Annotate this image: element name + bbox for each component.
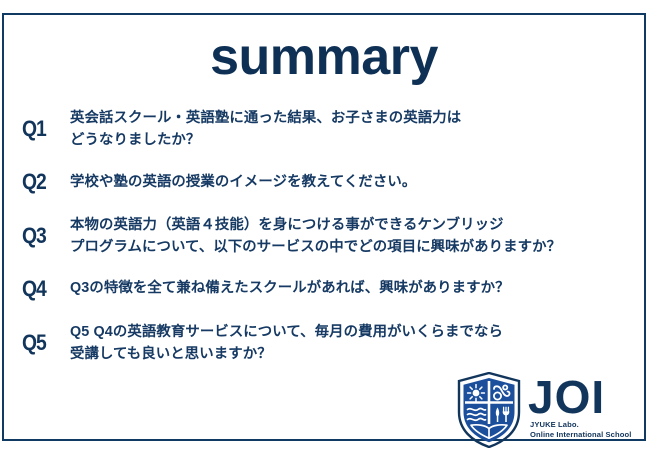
question-label-q1: Q1: [22, 117, 64, 141]
question-line: 本物の英語力（英語４技能）を身につける事ができるケンブリッジ: [70, 214, 630, 236]
question-row: Q3 本物の英語力（英語４技能）を身につける事ができるケンブリッジ プログラムに…: [22, 214, 630, 259]
question-row: Q5 Q5 Q4の英語教育サービスについて、毎月の費用がいくらまでなら 受講して…: [22, 321, 630, 366]
joi-tagline-line1: JYUKE Labo.: [530, 420, 631, 430]
question-line: 受講しても良いと思いますか？: [70, 343, 630, 365]
joi-logo: JOI JYUKE Labo. Online International Sch…: [456, 372, 636, 450]
question-text-q3: 本物の英語力（英語４技能）を身につける事ができるケンブリッジ プログラムについて…: [70, 214, 630, 259]
question-line: Q3の特徴を全て兼ね備えたスクールがあれば、興味がありますか？: [70, 277, 630, 299]
question-list: Q1 英会話スクール・英語塾に通った結果、お子さまの英語力は どうなりましたか？…: [22, 107, 630, 365]
joi-tagline: JYUKE Labo. Online International School: [530, 420, 631, 439]
question-label-q2: Q2: [22, 170, 64, 194]
question-text-q5: Q5 Q4の英語教育サービスについて、毎月の費用がいくらまでなら 受講しても良い…: [70, 321, 630, 366]
joi-tagline-line2: Online International School: [530, 430, 631, 440]
question-row: Q4 Q3の特徴を全て兼ね備えたスクールがあれば、興味がありますか？: [22, 277, 630, 301]
question-row: Q1 英会話スクール・英語塾に通った結果、お子さまの英語力は どうなりましたか？: [22, 107, 630, 152]
question-line: プログラムについて、以下のサービスの中でどの項目に興味がありますか？: [70, 236, 630, 258]
question-label-q5: Q5: [22, 331, 64, 355]
question-text-q4: Q3の特徴を全て兼ね備えたスクールがあれば、興味がありますか？: [70, 277, 630, 299]
question-line: Q5 Q4の英語教育サービスについて、毎月の費用がいくらまでなら: [70, 321, 630, 343]
question-text-q1: 英会話スクール・英語塾に通った結果、お子さまの英語力は どうなりましたか？: [70, 107, 630, 152]
slide-frame: summary Q1 英会話スクール・英語塾に通った結果、お子さまの英語力は ど…: [2, 13, 646, 441]
question-label-q4: Q4: [22, 277, 64, 301]
question-label-q3: Q3: [22, 224, 64, 248]
question-line: 英会話スクール・英語塾に通った結果、お子さまの英語力は: [70, 107, 630, 129]
question-line: 学校や塾の英語の授業のイメージを教えてください。: [70, 171, 630, 193]
joi-wordmark: JOI: [528, 374, 605, 420]
question-line: どうなりましたか？: [70, 129, 630, 151]
page-title: summary: [4, 31, 644, 83]
joi-shield-crest-icon: [456, 372, 522, 448]
question-text-q2: 学校や塾の英語の授業のイメージを教えてください。: [70, 171, 630, 193]
question-row: Q2 学校や塾の英語の授業のイメージを教えてください。: [22, 170, 630, 194]
